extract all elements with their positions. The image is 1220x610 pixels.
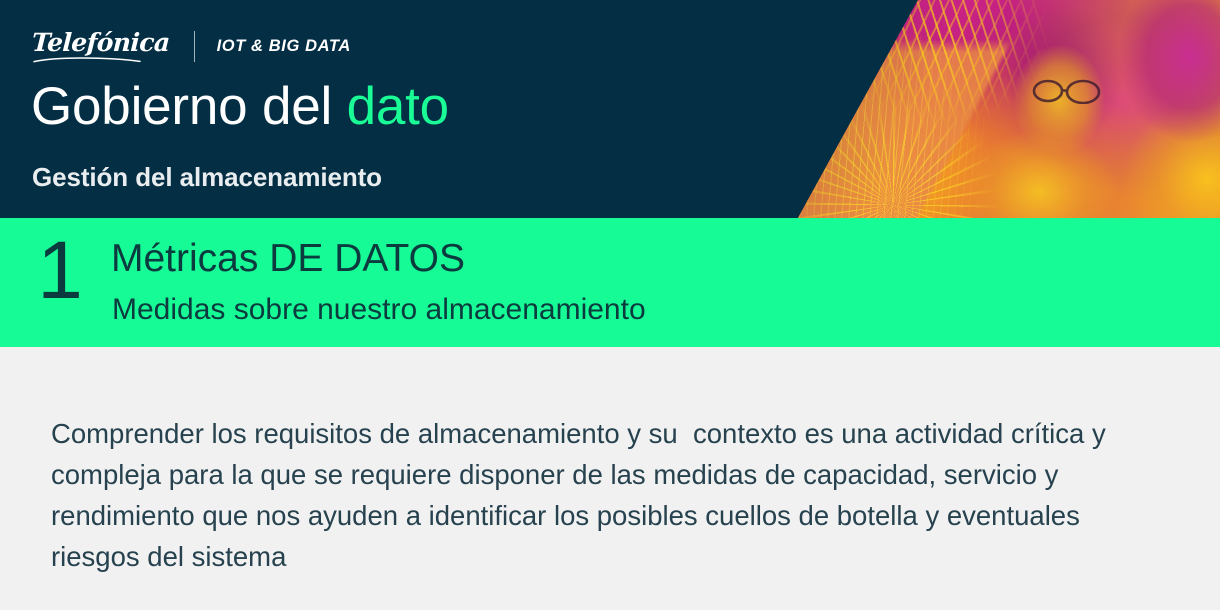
section-heading-rest: DE DATOS	[258, 237, 465, 280]
body-content: Comprender los requisitos de almacenamie…	[0, 347, 1220, 610]
telefonica-wordmark: Telefónica	[31, 30, 170, 55]
page-subtitle: Gestión del almacenamiento	[32, 162, 382, 193]
section-number: 1	[24, 230, 96, 312]
section-banner: 1 Métricas DE DATOS Medidas sobre nuestr…	[0, 218, 1220, 347]
page-title: Gobierno del dato	[31, 78, 449, 135]
telefonica-logo[interactable]: Telefónica	[32, 30, 170, 63]
sub-brand-label: IOT & BIG DATA	[217, 37, 351, 56]
photo-canvas	[790, 0, 1220, 218]
slide: Telefónica IOT & BIG DATA Gobierno del d…	[0, 0, 1220, 610]
body-paragraph: Comprender los requisitos de almacenamie…	[51, 413, 1166, 578]
header-banner: Telefónica IOT & BIG DATA Gobierno del d…	[0, 0, 1220, 218]
section-heading: Métricas DE DATOS	[111, 237, 465, 282]
photo-shadow-layer	[790, 0, 1220, 218]
logo-swash-icon	[33, 57, 141, 63]
page-title-main: Gobierno del	[31, 77, 347, 136]
page-title-accent: dato	[347, 77, 449, 136]
brand-logo-lockup[interactable]: Telefónica IOT & BIG DATA	[32, 27, 351, 65]
logo-divider	[194, 31, 195, 62]
section-subheading: Medidas sobre nuestro almacenamiento	[112, 292, 646, 328]
section-heading-lead: Métricas	[111, 237, 258, 280]
header-photo	[790, 0, 1220, 218]
